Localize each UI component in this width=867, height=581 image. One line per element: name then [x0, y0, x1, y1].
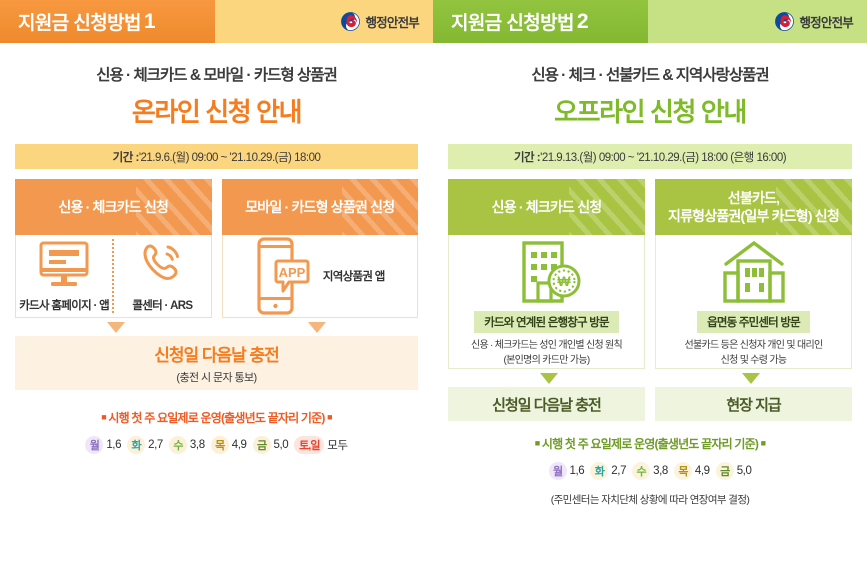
right-column-prepaid-header: 선불카드, 지류형상품권(일부 카드형) 신청	[655, 179, 852, 235]
weekend-badge: 토,일	[294, 436, 324, 454]
weekday-item: 월 1,6	[85, 436, 121, 454]
weekday-item: 화 2,7	[127, 436, 163, 454]
taegeuk-logo-icon	[341, 12, 360, 31]
left-subtitle: 신용 · 체크카드 & 모바일 · 카드형 상품권	[0, 63, 433, 85]
weekday-badge: 금	[253, 436, 271, 454]
down-triangle-icon	[540, 373, 558, 384]
weekday-item: 월 1,6	[549, 462, 585, 480]
right-column-prepaid-header-label: 선불카드, 지류형상품권(일부 카드형) 신청	[668, 189, 839, 225]
left-header-tab: 지원금 신청방법 1	[0, 0, 215, 43]
weekday-digits: 5,0	[737, 465, 752, 477]
weekday-digits: 모두	[327, 437, 347, 453]
left-header-brand-area: 행정안전부	[215, 0, 433, 43]
right-arrow-slot-1	[448, 369, 650, 387]
right-footer-note: (주민센터는 자치단체 상황에 따라 연장여부 결정)	[433, 492, 867, 507]
panel-online-application: 지원금 신청방법 1 행정안전부 신	[0, 0, 433, 581]
weekday-digits: 4,9	[232, 439, 247, 451]
right-card-note-line1: 신용 · 체크카드는 성인 개인별 신청 원칙	[471, 339, 622, 354]
right-arrow-row	[448, 369, 852, 387]
right-column-card: 신용 · 체크카드 신청	[448, 179, 645, 369]
right-prepaid-note-line2: 신청 및 수령 가능	[685, 354, 823, 369]
right-result-row: 신청일 다음날 충전 현장 지급	[448, 387, 852, 421]
weekday-badge: 목	[211, 436, 229, 454]
weekday-digits: 3,8	[190, 439, 205, 451]
left-header-bar: 지원금 신청방법 1 행정안전부	[0, 0, 433, 43]
weekday-badge: 월	[85, 436, 103, 454]
right-prepaid-header-line1: 선불카드,	[728, 190, 779, 206]
left-gov-label: 행정안전부	[365, 12, 419, 31]
left-header-tab-label: 지원금 신청방법	[18, 8, 141, 35]
right-gov-label: 행정안전부	[799, 12, 853, 31]
taegeuk-logo-icon	[775, 12, 794, 31]
left-arrow-slot-1	[15, 318, 217, 336]
right-result-box-2: 현장 지급	[655, 387, 852, 421]
square-marker-icon: ■	[101, 412, 106, 422]
left-result-box: 신청일 다음날 충전 (충전 시 문자 통보)	[15, 336, 418, 390]
weekday-badge: 화	[127, 436, 145, 454]
weekday-badge: 화	[590, 462, 608, 480]
weekday-item: 목 4,9	[211, 436, 247, 454]
left-column-mobile-header-label: 모바일 · 카드형 상품권 신청	[245, 198, 394, 216]
mobile-app-icon: APP	[255, 235, 311, 317]
left-footer-heading-label: 시행 첫 주 요일제로 운영(출생년도 끝자리 기준)	[108, 411, 324, 425]
weekday-digits: 3,8	[653, 465, 668, 477]
weekday-item: 수 3,8	[169, 436, 205, 454]
left-period-band: 기간 : '21.9.6.(월) 09:00 ~ '21.10.29.(금) 1…	[15, 144, 418, 169]
right-footer-heading: ■ 시행 첫 주 요일제로 운영(출생년도 끝자리 기준) ■	[433, 435, 867, 452]
down-triangle-icon	[742, 373, 760, 384]
weekday-digits: 4,9	[695, 465, 710, 477]
left-column-mobile: 모바일 · 카드형 상품권 신청 APP	[222, 179, 419, 318]
left-localgift-app-caption: 지역상품권 앱	[323, 268, 385, 284]
down-triangle-icon	[107, 322, 125, 333]
right-prepaid-pill: 읍면동 주민센터 방문	[697, 311, 810, 333]
right-column-card-header: 신용 · 체크카드 신청	[448, 179, 645, 235]
left-title-block: 신용 · 체크카드 & 모바일 · 카드형 상품권 온라인 신청 안내	[0, 43, 433, 129]
left-result-sub: (충전 시 문자 통보)	[176, 369, 256, 385]
right-header-bar: 지원금 신청방법 2 행정안전부	[433, 0, 867, 43]
right-result-box-1: 신청일 다음날 충전	[448, 387, 645, 421]
svg-text:₩: ₩	[558, 273, 572, 289]
weekday-digits: 5,0	[274, 439, 289, 451]
left-callcenter-cell: 콜센터 · ARS	[114, 240, 210, 313]
weekday-digits: 2,7	[148, 439, 163, 451]
right-card-pill: 카드와 연계된 은행창구 방문	[474, 311, 619, 333]
left-main-title: 온라인 신청 안내	[0, 92, 433, 129]
weekday-item: 수 3,8	[632, 462, 668, 480]
right-column-prepaid: 선불카드, 지류형상품권(일부 카드형) 신청	[655, 179, 852, 369]
square-marker-icon: ■	[327, 412, 332, 422]
left-header-tab-number: 1	[144, 10, 156, 34]
left-gov-brand: 행정안전부	[341, 12, 419, 31]
weekday-badge: 수	[169, 436, 187, 454]
left-callcenter-caption: 콜센터 · ARS	[132, 297, 192, 313]
right-footer-heading-label: 시행 첫 주 요일제로 운영(출생년도 끝자리 기준)	[542, 437, 758, 451]
left-column-card: 신용 · 체크카드 신청	[15, 179, 212, 318]
right-header-tab-label: 지원금 신청방법	[451, 8, 574, 35]
weekday-item: 화 2,7	[590, 462, 626, 480]
right-card-note-line2: (본인명의 카드만 가능)	[471, 354, 622, 369]
panel-offline-application: 지원금 신청방법 2 행정안전부 신	[433, 0, 867, 581]
weekday-badge: 목	[674, 462, 692, 480]
right-main-title: 오프라인 신청 안내	[433, 92, 867, 129]
down-triangle-icon	[308, 322, 326, 333]
right-prepaid-header-line2: 지류형상품권(일부 카드형) 신청	[668, 208, 839, 224]
square-marker-icon: ■	[761, 438, 766, 448]
left-result-main: 신청일 다음날 충전	[154, 341, 279, 366]
right-period-value: '21.9.13.(월) 09:00 ~ '21.10.29.(금) 18:00…	[540, 149, 786, 165]
weekday-item: 목 4,9	[674, 462, 710, 480]
right-period-label: 기간 :	[514, 149, 540, 165]
right-prepaid-note: 선불카드 등은 신청자 개인 및 대리인 신청 및 수령 가능	[685, 339, 823, 368]
left-card-homepage-caption: 카드사 홈페이지 · 앱	[19, 297, 109, 313]
svg-text:APP: APP	[278, 265, 305, 280]
weekday-badge: 수	[632, 462, 650, 480]
square-marker-icon: ■	[535, 438, 540, 448]
left-period-label: 기간 :	[113, 149, 139, 165]
right-period-band: 기간 : '21.9.13.(월) 09:00 ~ '21.10.29.(금) …	[448, 144, 852, 169]
right-column-card-header-label: 신용 · 체크카드 신청	[492, 198, 602, 216]
right-title-block: 신용 · 체크 · 선불카드 & 지역사랑상품권 오프라인 신청 안내	[433, 43, 867, 129]
right-columns: 신용 · 체크카드 신청	[448, 179, 852, 369]
left-arrow-slot-2	[217, 318, 419, 336]
phone-ars-icon	[137, 240, 187, 290]
left-card-homepage-cell: 카드사 홈페이지 · 앱	[16, 240, 112, 313]
left-weekday-list: 월 1,6 화 2,7 수 3,8 목 4,9 금 5,0	[0, 436, 433, 454]
weekday-item: 금 5,0	[253, 436, 289, 454]
weekday-digits: 2,7	[611, 465, 626, 477]
right-column-card-body: ₩ 카드와 연계된 은행창구 방문 신용 · 체크카드는 성인 개인별 신청 원…	[448, 235, 645, 369]
bank-building-won-icon: ₩	[510, 239, 582, 305]
weekday-digits: 1,6	[106, 439, 121, 451]
left-column-card-body: 카드사 홈페이지 · 앱 콜센터 · ARS	[15, 235, 212, 318]
right-weekday-list: 월 1,6 화 2,7 수 3,8 목 4,9 금 5,0	[433, 462, 867, 480]
right-header-brand-area: 행정안전부	[648, 0, 867, 43]
infographic-board: 지원금 신청방법 1 행정안전부 신	[0, 0, 867, 581]
weekday-badge: 월	[549, 462, 567, 480]
weekday-digits: 1,6	[570, 465, 585, 477]
left-column-mobile-body: APP 지역상품권 앱	[222, 235, 419, 318]
right-gov-brand: 행정안전부	[775, 12, 853, 31]
left-columns: 신용 · 체크카드 신청	[15, 179, 418, 318]
right-column-prepaid-body: 읍면동 주민센터 방문 선불카드 등은 신청자 개인 및 대리인 신청 및 수령…	[655, 235, 852, 369]
left-footer: ■ 시행 첫 주 요일제로 운영(출생년도 끝자리 기준) ■ 월 1,6 화 …	[0, 390, 433, 454]
right-prepaid-note-line1: 선불카드 등은 신청자 개인 및 대리인	[685, 339, 823, 354]
left-arrow-row	[15, 318, 418, 336]
right-header-tab: 지원금 신청방법 2	[433, 0, 648, 43]
left-column-card-header: 신용 · 체크카드 신청	[15, 179, 212, 235]
left-footer-heading: ■ 시행 첫 주 요일제로 운영(출생년도 끝자리 기준) ■	[0, 409, 433, 426]
weekday-item: 금 5,0	[716, 462, 752, 480]
desktop-monitor-card-icon	[37, 240, 91, 290]
weekday-badge: 금	[716, 462, 734, 480]
left-column-card-header-label: 신용 · 체크카드 신청	[58, 198, 168, 216]
right-footer: ■ 시행 첫 주 요일제로 운영(출생년도 끝자리 기준) ■ 월 1,6 화 …	[433, 421, 867, 507]
right-card-note: 신용 · 체크카드는 성인 개인별 신청 원칙 (본인명의 카드만 가능)	[471, 339, 622, 368]
community-center-building-icon	[716, 239, 792, 305]
left-column-mobile-header: 모바일 · 카드형 상품권 신청	[222, 179, 419, 235]
weekday-item: 토,일 모두	[294, 436, 347, 454]
right-subtitle: 신용 · 체크 · 선불카드 & 지역사랑상품권	[433, 63, 867, 85]
left-period-value: '21.9.6.(월) 09:00 ~ '21.10.29.(금) 18:00	[139, 149, 321, 165]
right-arrow-slot-2	[650, 369, 852, 387]
right-header-tab-number: 2	[577, 10, 589, 34]
